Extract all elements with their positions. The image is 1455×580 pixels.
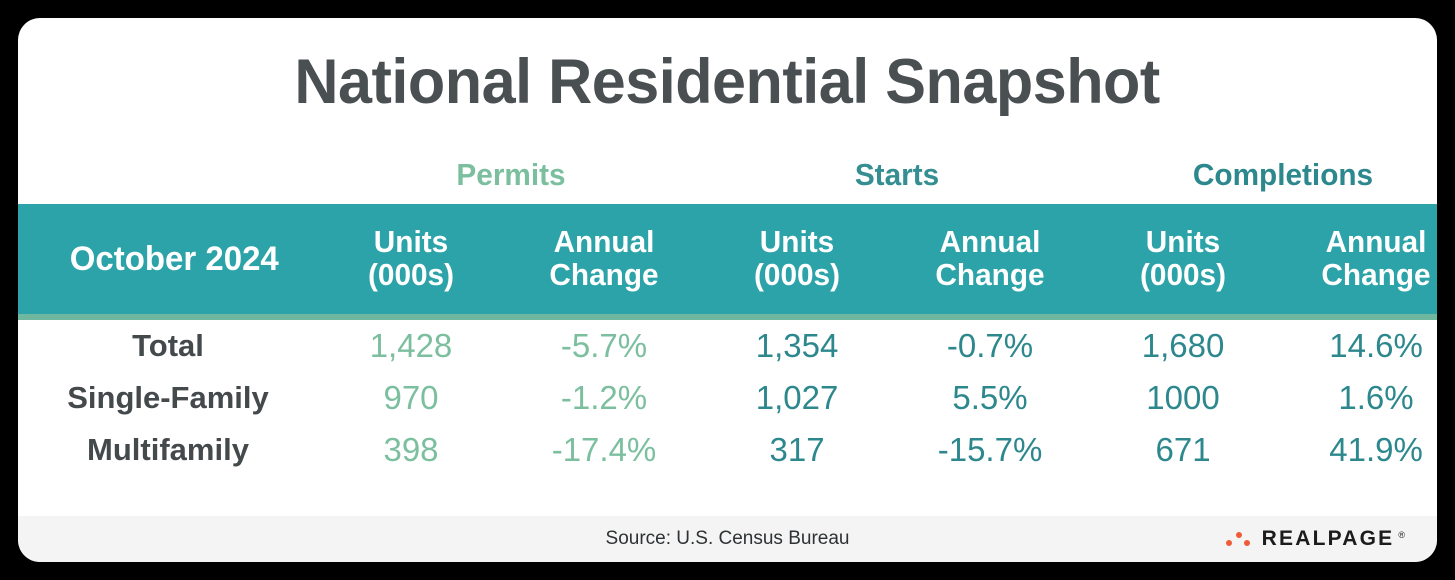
cell-completions-units: 1000 <box>1090 372 1276 424</box>
change-line-1: Annual <box>554 224 655 259</box>
cell-completions-change: 14.6% <box>1276 317 1437 372</box>
colheader-change-text: Annual Change <box>894 226 1086 292</box>
snapshot-card: National Residential Snapshot Permits St… <box>18 18 1437 562</box>
cell-completions-units: 1,680 <box>1090 317 1276 372</box>
trademark-symbol: ® <box>1398 530 1405 540</box>
colheader-permits-change: Annual Change <box>504 204 704 317</box>
group-header-permits: Permits <box>318 146 704 204</box>
group-label-completions: Completions <box>1098 157 1437 193</box>
row-label: Single-Family <box>18 372 318 424</box>
table-row: Multifamily 398 -17.4% 317 -15.7% 671 41… <box>18 424 1437 476</box>
colheader-units-text: Units (000s) <box>322 226 501 292</box>
group-label-permits: Permits <box>326 157 697 193</box>
cell-starts-change: -0.7% <box>890 317 1090 372</box>
cell-starts-units: 1,027 <box>704 372 890 424</box>
units-line-1: Units <box>1146 224 1220 259</box>
group-label-starts: Starts <box>712 157 1083 193</box>
table-container: Permits Starts Completions October 2024 … <box>18 146 1437 516</box>
colheader-completions-change: Annual Change <box>1276 204 1437 317</box>
page-title: National Residential Snapshot <box>295 46 1160 118</box>
cell-starts-change: -15.7% <box>890 424 1090 476</box>
colheader-change-text: Annual Change <box>1280 226 1437 292</box>
colheader-completions-units: Units (000s) <box>1090 204 1276 317</box>
cell-permits-change: -17.4% <box>504 424 704 476</box>
change-line-2: Change <box>549 257 658 292</box>
change-line-2: Change <box>1321 257 1430 292</box>
cell-completions-change: 41.9% <box>1276 424 1437 476</box>
cell-starts-change: 5.5% <box>890 372 1090 424</box>
cell-permits-units: 398 <box>318 424 504 476</box>
cell-starts-units: 317 <box>704 424 890 476</box>
cell-starts-units: 1,354 <box>704 317 890 372</box>
cell-completions-units: 671 <box>1090 424 1276 476</box>
footer: Source: U.S. Census Bureau REALPAGE ® <box>18 516 1437 562</box>
row-label: Multifamily <box>18 424 318 476</box>
change-line-1: Annual <box>940 224 1041 259</box>
colheader-units-text: Units (000s) <box>708 226 887 292</box>
colheader-starts-change: Annual Change <box>890 204 1090 317</box>
residential-snapshot-table: Permits Starts Completions October 2024 … <box>18 146 1437 476</box>
change-line-2: Change <box>935 257 1044 292</box>
cell-permits-change: -1.2% <box>504 372 704 424</box>
group-header-spacer <box>18 146 318 204</box>
colheader-units-text: Units (000s) <box>1094 226 1273 292</box>
units-line-1: Units <box>374 224 448 259</box>
units-line-1: Units <box>760 224 834 259</box>
source-note: Source: U.S. Census Bureau <box>606 528 850 550</box>
group-header-starts: Starts <box>704 146 1090 204</box>
realpage-dots-icon <box>1225 529 1255 549</box>
change-line-1: Annual <box>1326 224 1427 259</box>
units-line-2: (000s) <box>1140 257 1226 292</box>
colheader-permits-units: Units (000s) <box>318 204 504 317</box>
table-row: Single-Family 970 -1.2% 1,027 5.5% 1000 … <box>18 372 1437 424</box>
table-row: Total 1,428 -5.7% 1,354 -0.7% 1,680 14.6… <box>18 317 1437 372</box>
cell-permits-units: 1,428 <box>318 317 504 372</box>
period-cell: October 2024 <box>18 204 318 317</box>
column-header-row: October 2024 Units (000s) Annual Change … <box>18 204 1437 317</box>
realpage-wordmark: REALPAGE <box>1262 527 1395 551</box>
cell-permits-units: 970 <box>318 372 504 424</box>
group-header-row: Permits Starts Completions <box>18 146 1437 204</box>
colheader-change-text: Annual Change <box>508 226 700 292</box>
units-line-2: (000s) <box>368 257 454 292</box>
cell-permits-change: -5.7% <box>504 317 704 372</box>
group-header-completions: Completions <box>1090 146 1437 204</box>
cell-completions-change: 1.6% <box>1276 372 1437 424</box>
row-label: Total <box>18 317 318 372</box>
units-line-2: (000s) <box>754 257 840 292</box>
colheader-starts-units: Units (000s) <box>704 204 890 317</box>
period-label: October 2024 <box>70 240 314 279</box>
title-area: National Residential Snapshot <box>18 18 1437 146</box>
realpage-logo: REALPAGE ® <box>1225 527 1405 551</box>
